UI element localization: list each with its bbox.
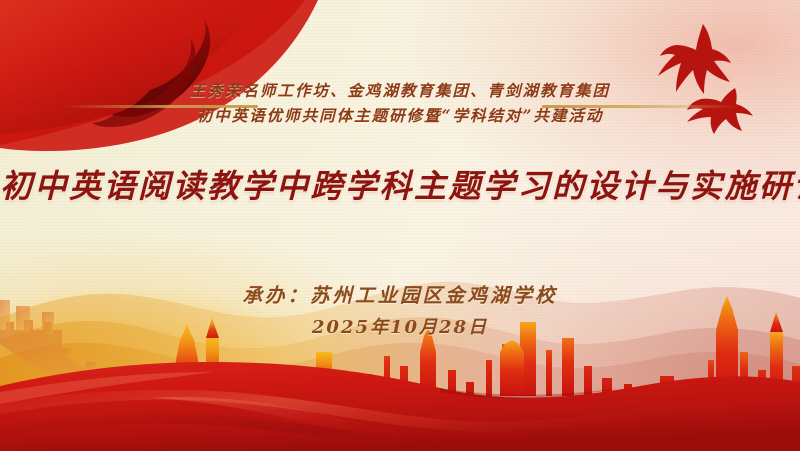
- event-date-line: 2025年10月28日: [0, 313, 800, 339]
- subtitle-line-2: 初中英语优师共同体主题研修暨“学科结对”共建活动: [0, 103, 800, 128]
- subtitle-block: 王秀荣名师工作坊、金鸡湖教育集团、青剑湖教育集团 初中英语优师共同体主题研修暨“…: [0, 78, 800, 128]
- page-title: 初中英语阅读教学中跨学科主题学习的设计与实施研讨: [0, 161, 800, 207]
- conference-poster: 王秀荣名师工作坊、金鸡湖教育集团、青剑湖教育集团 初中英语优师共同体主题研修暨“…: [0, 0, 800, 451]
- subtitle-line-1: 王秀荣名师工作坊、金鸡湖教育集团、青剑湖教育集团: [0, 78, 800, 103]
- poster-text-content: 王秀荣名师工作坊、金鸡湖教育集团、青剑湖教育集团 初中英语优师共同体主题研修暨“…: [0, 0, 800, 451]
- host-organization-line: 承办：苏州工业园区金鸡湖学校: [0, 279, 800, 308]
